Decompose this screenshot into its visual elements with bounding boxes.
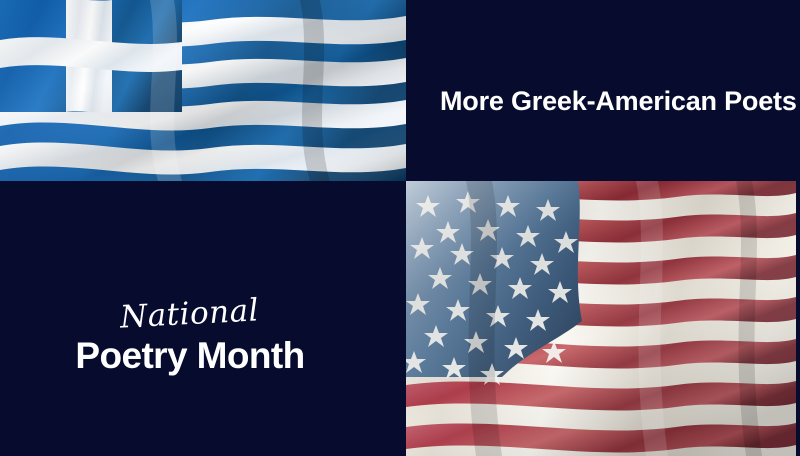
lockup-script-line: National (120, 292, 261, 335)
right-edge-strip (796, 181, 800, 456)
us-flag-photo (406, 181, 796, 456)
lockup-script-line-wrap: National (0, 296, 380, 332)
page-title: More Greek-American Poets (440, 85, 785, 117)
lockup-bold-line: Poetry Month (0, 334, 380, 378)
greek-flag-illustration (0, 0, 406, 181)
banner-canvas: More Greek-American Poets National Poetr… (0, 0, 800, 456)
us-flag-illustration (406, 181, 796, 456)
greek-flag-photo (0, 0, 406, 181)
poetry-month-lockup: National Poetry Month (0, 296, 380, 378)
